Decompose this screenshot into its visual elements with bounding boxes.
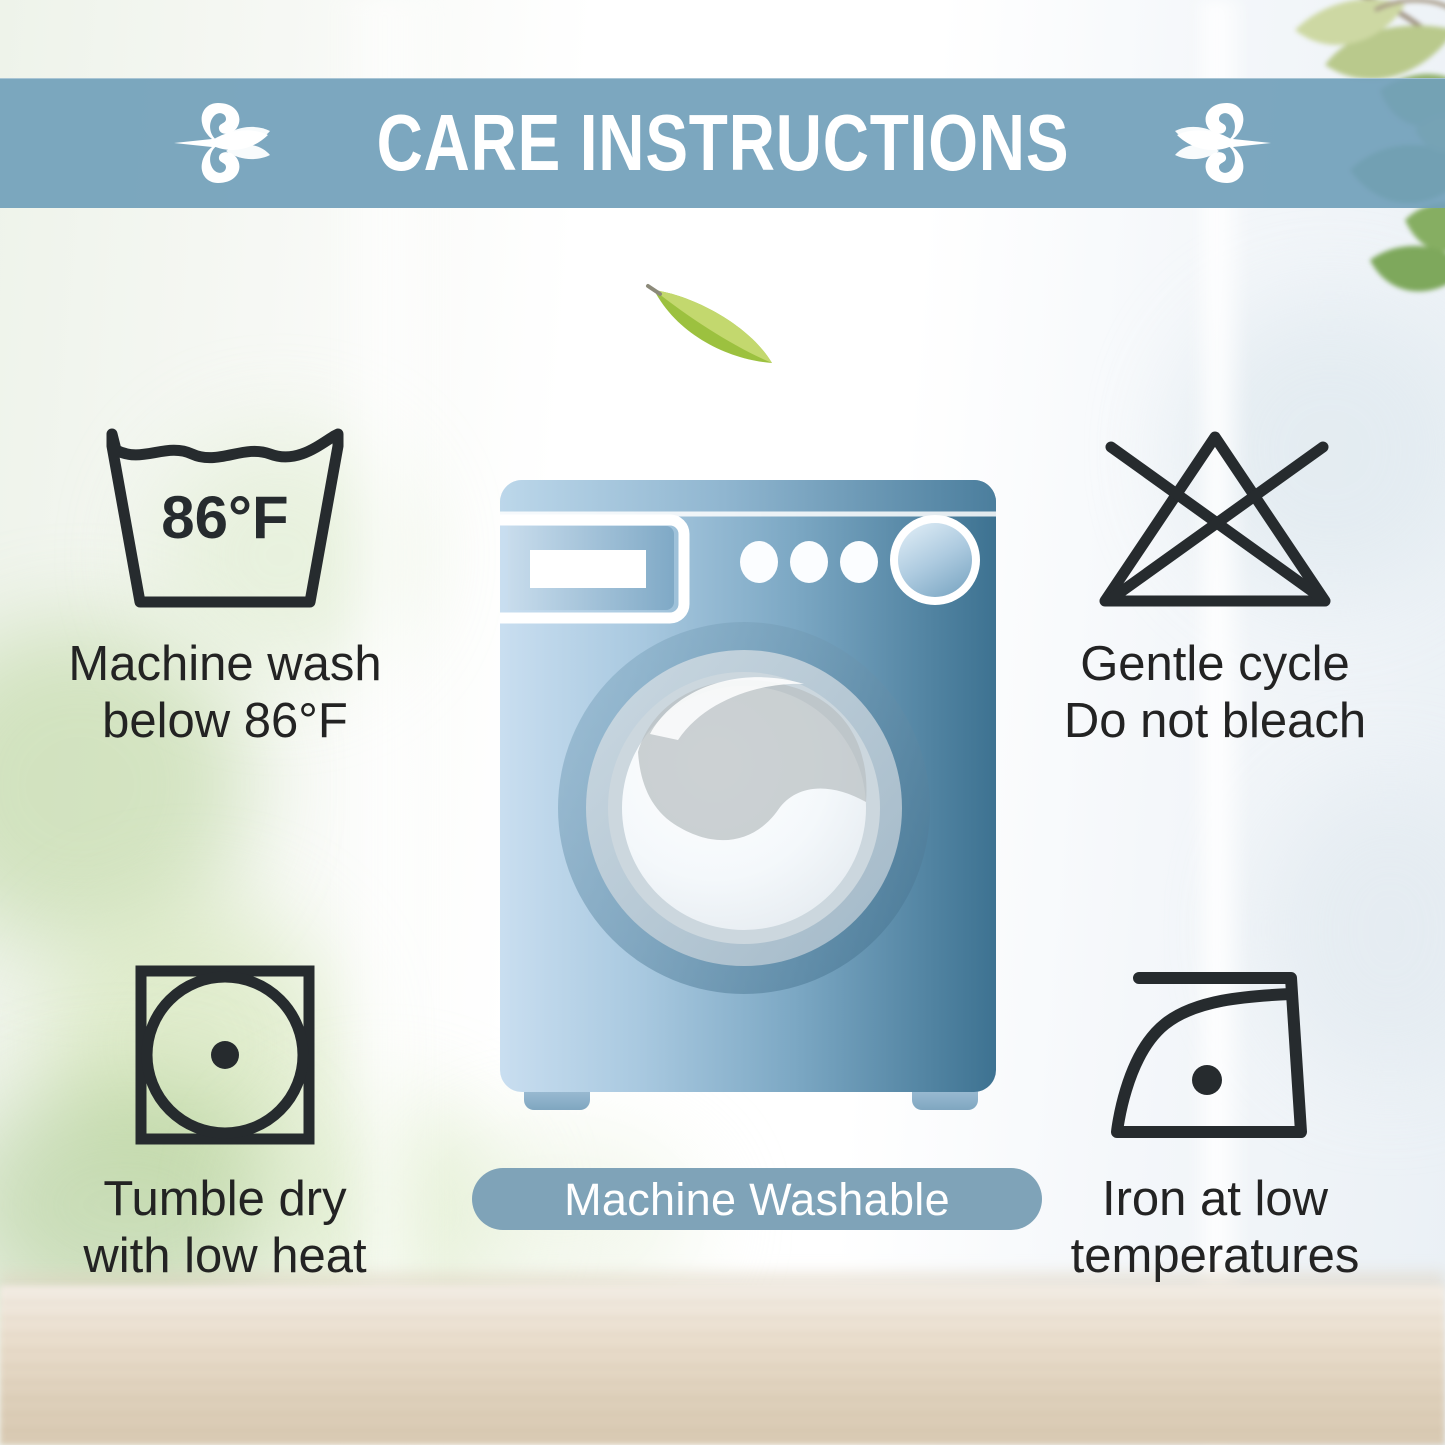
care-caption: Machine wash below 86°F [68,636,381,750]
caption-line-1: Iron at low [1071,1171,1360,1228]
fleur-de-lis-icon [1165,95,1285,191]
drawer-handle [530,550,646,588]
caption-line-2: below 86°F [68,693,381,750]
care-caption: Gentle cycle Do not bleach [1064,636,1366,750]
machine-washable-badge: Machine Washable [472,1168,1042,1230]
header-banner: CARE INSTRUCTIONS [0,78,1445,208]
indicator-light [840,541,878,583]
indicator-light [790,541,828,583]
care-item-do-not-bleach: Gentle cycle Do not bleach [1000,420,1430,750]
care-caption: Tumble dry with low heat [83,1171,366,1285]
care-item-machine-wash: 86°F Machine wash below 86°F [10,420,440,750]
care-item-iron-low: Iron at low temperatures [1000,955,1430,1285]
fleur-de-lis-icon [160,95,280,191]
caption-line-1: Machine wash [68,636,381,693]
caption-line-2: with low heat [83,1228,366,1285]
care-caption: Iron at low temperatures [1071,1171,1360,1285]
tumble-dry-icon [125,955,325,1155]
caption-line-1: Tumble dry [83,1171,366,1228]
badge-label: Machine Washable [564,1177,950,1222]
washing-machine-illustration [478,452,1018,1122]
indicator-light [740,541,778,583]
control-dial-face [898,523,972,597]
caption-line-2: Do not bleach [1064,693,1366,750]
caption-line-2: temperatures [1071,1228,1360,1285]
floating-leaf-icon [640,268,790,378]
wash-temperature-label: 86°F [161,484,288,551]
wash-tub-icon: 86°F [94,420,356,620]
page-title: CARE INSTRUCTIONS [368,103,1077,183]
wooden-table-surface [0,1285,1445,1445]
machine-top-panel [500,480,996,512]
crossed-triangle-icon [1085,420,1345,620]
care-item-tumble-dry: Tumble dry with low heat [10,955,440,1285]
caption-line-1: Gentle cycle [1064,636,1366,693]
iron-icon [1095,955,1335,1155]
